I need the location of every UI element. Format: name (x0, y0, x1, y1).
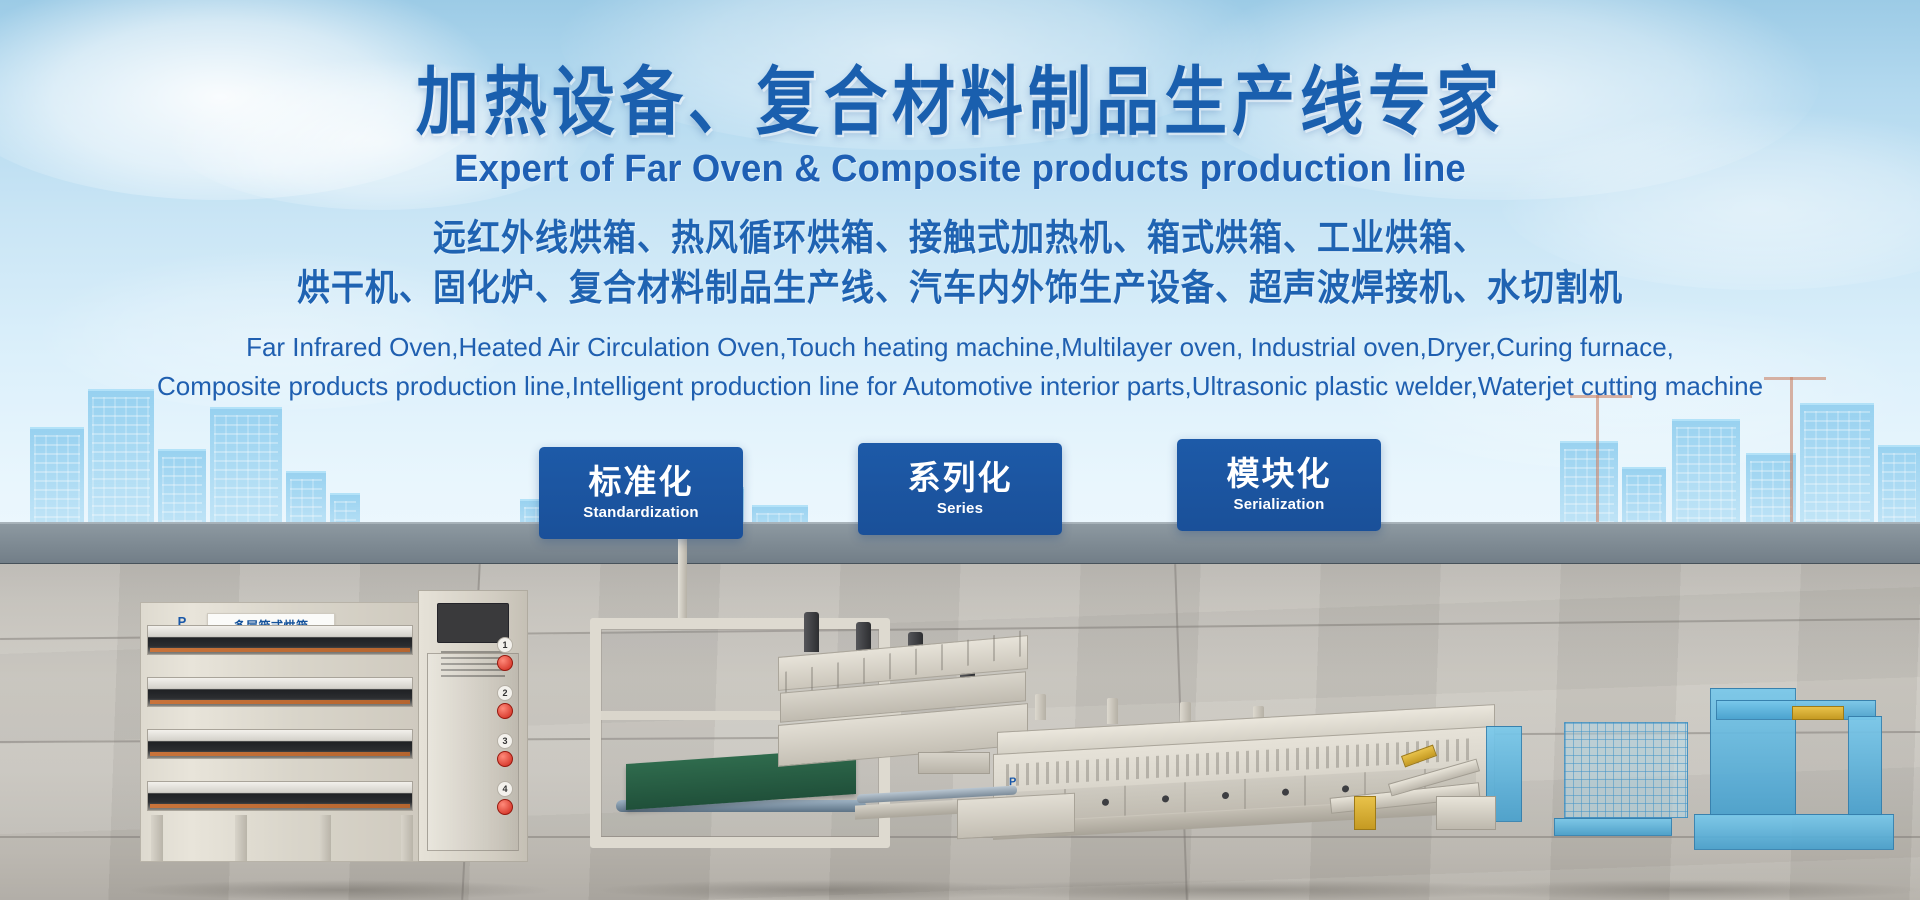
oven-shelf (147, 625, 413, 655)
product-list-cn-line2: 烘干机、固化炉、复合材料制品生产线、汽车内外饰生产设备、超声波焊接机、水切割机 (0, 261, 1920, 316)
oven-legs (151, 813, 413, 861)
badge-label-cn: 系列化 (908, 461, 1013, 496)
oven-shelf (147, 729, 413, 759)
machine-shadow (130, 880, 550, 900)
machine-shadow (1460, 880, 1920, 900)
exhaust-stack (1035, 694, 1046, 720)
badge-serialization[interactable]: 模块化 Serialization (1177, 439, 1381, 531)
badge-label-en: Standardization (583, 504, 699, 521)
exhaust-stack (1107, 698, 1118, 724)
oven-body: P 彩 霞 多层箱式烘箱 MULTILAYER BOX OVEN (140, 602, 420, 862)
product-list-cn-line1: 远红外线烘箱、热风循环烘箱、接触式加热机、箱式烘箱、工业烘箱、 (0, 211, 1920, 266)
robot-cell-rail (1554, 818, 1672, 836)
machine-multilayer-box-oven: P 彩 霞 多层箱式烘箱 MULTILAYER BOX OVEN (140, 590, 530, 862)
shelf-button-3[interactable] (497, 751, 513, 767)
control-cabinet: 1 2 3 4 (418, 590, 528, 862)
product-list-en-line1: Far Infrared Oven,Heated Air Circulation… (0, 328, 1920, 366)
badge-standardization[interactable]: 标准化 Standardization (539, 447, 743, 539)
shelf-button-4[interactable] (497, 799, 513, 815)
shelf-indicator-3: 3 (497, 733, 513, 749)
banner-copy: 加热设备、复合材料制品生产线专家 Expert of Far Oven & Co… (0, 0, 1920, 405)
robot-arm-base (1436, 796, 1496, 830)
product-list-en: Far Infrared Oven,Heated Air Circulation… (0, 328, 1920, 405)
robot-cell-column (1848, 716, 1882, 816)
page-title-cn: 加热设备、复合材料制品生产线专家 (0, 64, 1920, 142)
robot-cell-base (1694, 814, 1894, 850)
product-list-en-line2: Composite products production line,Intel… (0, 367, 1920, 405)
badge-label-en: Serialization (1234, 496, 1325, 513)
tunnel-brand-logo: P (1009, 776, 1016, 788)
oven-shelf (147, 781, 413, 811)
outfeed-module (957, 793, 1075, 840)
machinery-illustration: P 彩 霞 多层箱式烘箱 MULTILAYER BOX OVEN (0, 480, 1920, 900)
machine-robot-cell (1480, 650, 1900, 870)
page-title-en: Expert of Far Oven & Composite products … (38, 148, 1881, 191)
badge-label-cn: 模块化 (1227, 457, 1332, 492)
product-list-cn: 远红外线烘箱、热风循环烘箱、接触式加热机、箱式烘箱、工业烘箱、 烘干机、固化炉、… (0, 213, 1920, 313)
feature-badges: 标准化 Standardization 系列化 Series 模块化 Seria… (0, 447, 1920, 539)
control-panel-screen[interactable] (437, 603, 509, 643)
badge-series[interactable]: 系列化 Series (858, 443, 1062, 535)
safety-mesh-fence (1564, 722, 1688, 818)
yellow-machine-part (1354, 796, 1376, 830)
shelf-indicator-1: 1 (497, 637, 513, 653)
shelf-indicator-4: 4 (497, 781, 513, 797)
badge-label-cn: 标准化 (589, 465, 694, 500)
badge-label-en: Series (937, 500, 983, 517)
shelf-button-2[interactable] (497, 703, 513, 719)
oven-shelf (147, 677, 413, 707)
hero-banner: 加热设备、复合材料制品生产线专家 Expert of Far Oven & Co… (0, 0, 1920, 900)
yellow-machine-part (1792, 706, 1844, 720)
shelf-button-1[interactable] (497, 655, 513, 671)
shelf-indicator-2: 2 (497, 685, 513, 701)
machine-shadow (940, 880, 1540, 900)
